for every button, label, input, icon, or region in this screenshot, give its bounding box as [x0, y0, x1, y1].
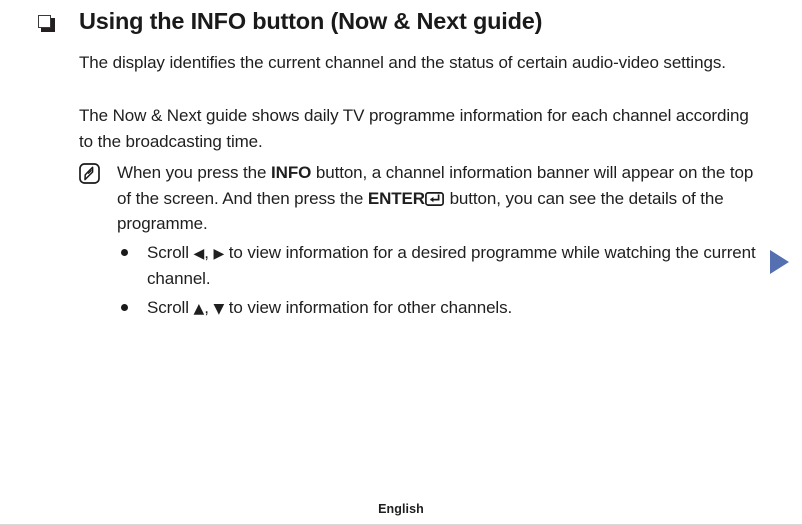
manual-page: Using the INFO button (Now & Next guide)…: [0, 0, 802, 525]
enter-key-icon: [425, 192, 444, 206]
body-paragraph-1: The display identifies the current chann…: [79, 50, 751, 76]
arrow-right-icon: ▶: [213, 246, 224, 262]
bullet-1-text-before: Scroll: [147, 243, 194, 262]
bullet-dot-icon: [121, 304, 128, 311]
list-item: Scroll ▲, ▼ to view information for othe…: [118, 295, 758, 321]
bullet-2-text-after: to view information for other channels.: [224, 298, 512, 317]
note-block: When you press the INFO button, a channe…: [79, 160, 759, 237]
triangle-right-icon[interactable]: [770, 250, 789, 274]
page-title: Using the INFO button (Now & Next guide): [79, 6, 542, 36]
page-footer: English: [0, 502, 802, 525]
square-box-icon: [38, 15, 55, 32]
section-heading: Using the INFO button (Now & Next guide): [0, 6, 760, 36]
body-paragraph-2: The Now & Next guide shows daily TV prog…: [79, 103, 751, 154]
scroll-instructions-list: Scroll ◀, ▶ to view information for a de…: [118, 240, 758, 325]
arrow-left-icon: ◀: [194, 246, 205, 262]
bullet-1-text-after: to view information for a desired progra…: [147, 243, 756, 288]
note-bold-info: INFO: [271, 163, 311, 182]
footer-language-label: English: [0, 502, 802, 524]
arrow-up-icon: ▲: [194, 301, 205, 317]
arrow-down-icon: ▼: [213, 301, 224, 317]
list-item: Scroll ◀, ▶ to view information for a de…: [118, 240, 758, 291]
note-text-segment-1: When you press the: [117, 163, 271, 182]
note-pen-icon: [79, 163, 100, 184]
bullet-dot-icon: [121, 249, 128, 256]
note-text: When you press the INFO button, a channe…: [117, 160, 759, 237]
bullet-2-text-before: Scroll: [147, 298, 194, 317]
note-bold-enter: ENTER: [368, 189, 425, 208]
